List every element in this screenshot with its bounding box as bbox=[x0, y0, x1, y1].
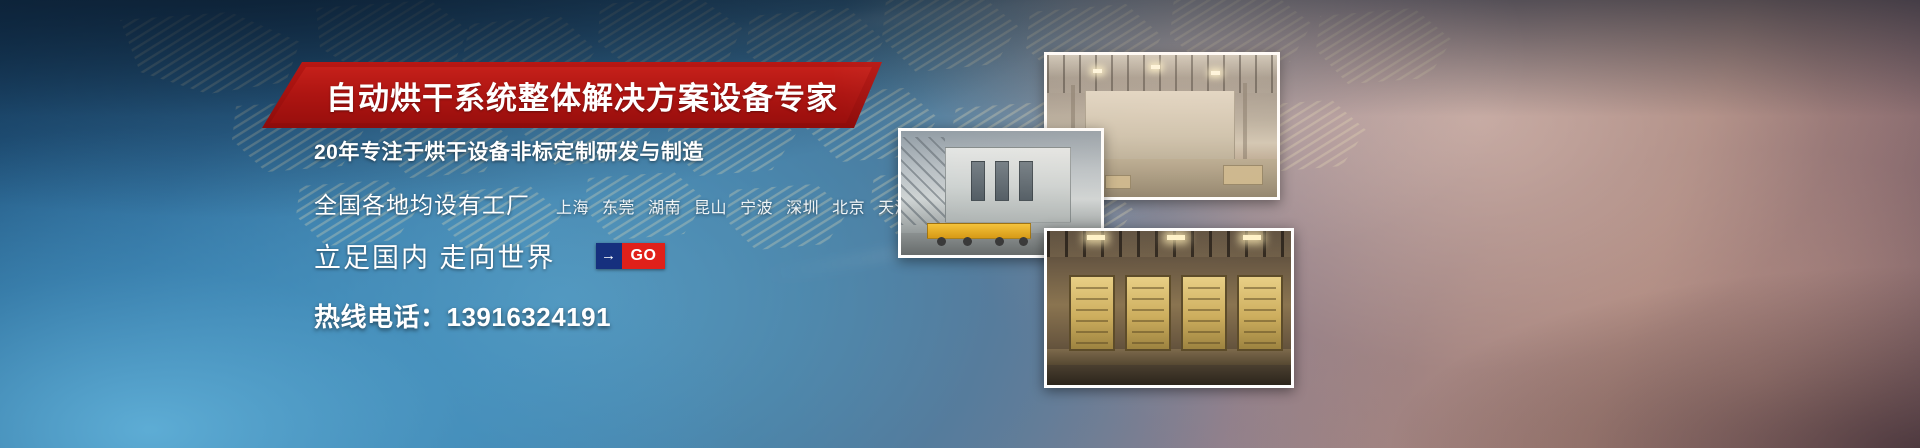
go-button[interactable]: → GO bbox=[596, 243, 666, 269]
chamber-door bbox=[1019, 161, 1033, 201]
city-item: 东莞 bbox=[602, 200, 635, 217]
ceiling-lamp bbox=[1167, 235, 1185, 240]
factory-label: 全国各地均设有工厂 bbox=[314, 186, 530, 220]
city-item: 深圳 bbox=[786, 200, 819, 217]
headline-text: 自动烘干系统整体解决方案设备专家 bbox=[262, 62, 882, 128]
city-item: 湖南 bbox=[648, 200, 681, 217]
pallet-crate bbox=[1223, 165, 1263, 185]
go-button-label: GO bbox=[622, 243, 666, 269]
steel-truss bbox=[901, 137, 945, 225]
hotline-text: 热线电话：13916324191 bbox=[314, 297, 954, 334]
slogan-line: 立足国内 走向世界 → GO bbox=[314, 236, 954, 275]
drying-rack bbox=[1069, 275, 1115, 351]
chamber-door bbox=[995, 161, 1009, 201]
ceiling-lamp bbox=[1087, 235, 1105, 240]
factory-line: 全国各地均设有工厂 上海东莞湖南昆山宁波深圳北京天津 bbox=[314, 186, 954, 220]
cart-wheel bbox=[995, 237, 1004, 246]
drying-rack bbox=[1181, 275, 1227, 351]
marketing-copy: 20年专注于烘干设备非标定制研发与制造 全国各地均设有工厂 上海东莞湖南昆山宁波… bbox=[314, 136, 954, 334]
chamber-wall bbox=[1085, 91, 1235, 167]
cart-wheel bbox=[1019, 237, 1028, 246]
drying-rack bbox=[1237, 275, 1283, 351]
headline-ribbon: 自动烘干系统整体解决方案设备专家 bbox=[262, 62, 882, 128]
photo-oven-line bbox=[1044, 228, 1294, 388]
slogan-text: 立足国内 走向世界 bbox=[314, 236, 556, 275]
ceiling-lamp bbox=[1093, 69, 1102, 73]
ceiling-lamp bbox=[1151, 65, 1160, 69]
drying-rack bbox=[1125, 275, 1171, 351]
light-streak-1 bbox=[621, 0, 1139, 51]
ceiling-lamp bbox=[1243, 235, 1261, 240]
cart-wheel bbox=[963, 237, 972, 246]
pallet-crate bbox=[1105, 175, 1131, 189]
city-list: 上海东莞湖南昆山宁波深圳北京天津 bbox=[556, 194, 924, 218]
ceiling-lamp bbox=[1211, 71, 1220, 75]
cart-wheel bbox=[937, 237, 946, 246]
subtitle-text: 20年专注于烘干设备非标定制研发与制造 bbox=[314, 136, 954, 166]
city-item: 上海 bbox=[556, 200, 589, 217]
city-item: 北京 bbox=[832, 200, 865, 217]
city-item: 宁波 bbox=[740, 200, 773, 217]
city-item: 昆山 bbox=[694, 200, 727, 217]
support-column bbox=[1243, 83, 1247, 167]
floor-surface bbox=[1047, 365, 1291, 385]
chamber-door bbox=[971, 161, 985, 201]
arrow-right-icon: → bbox=[596, 243, 622, 269]
promo-banner: 自动烘干系统整体解决方案设备专家 20年专注于烘干设备非标定制研发与制造 全国各… bbox=[0, 0, 1920, 448]
